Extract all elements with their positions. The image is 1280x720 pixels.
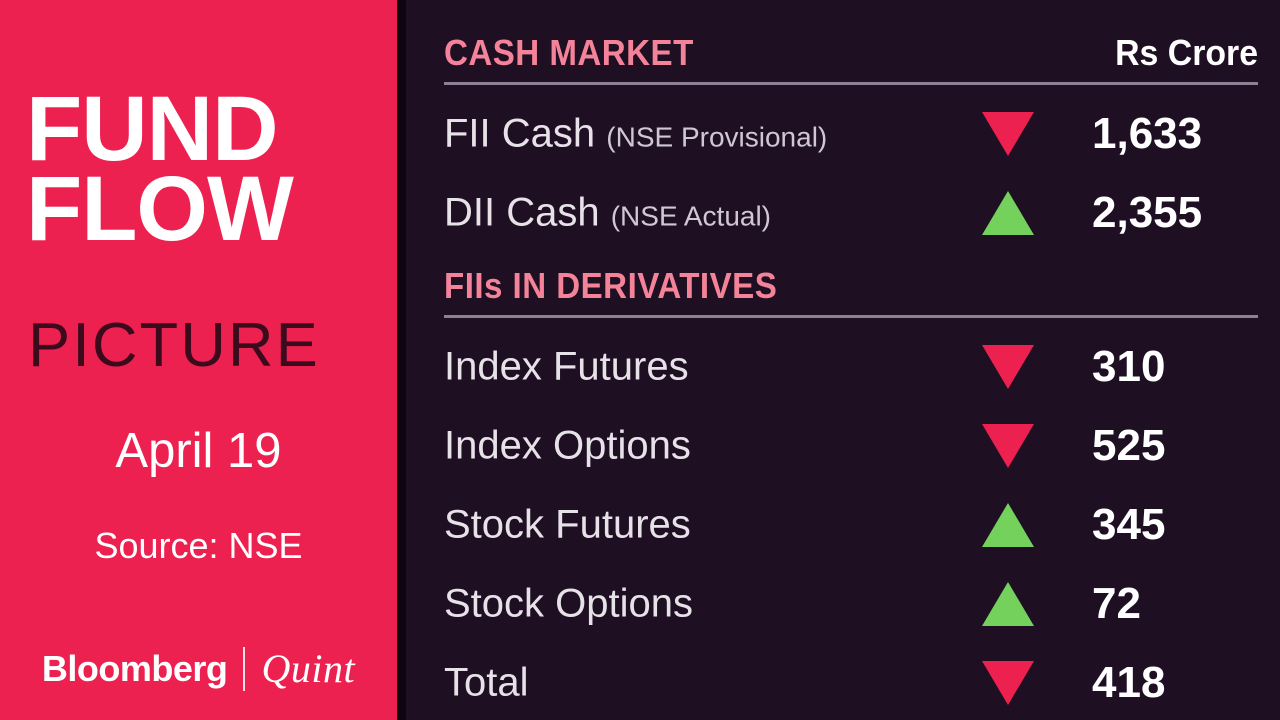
row-label-stock-options: Stock Options xyxy=(444,581,693,626)
triangle-down-icon xyxy=(982,424,1034,468)
triangle-up-icon xyxy=(982,582,1034,626)
row-label-text: DII Cash xyxy=(444,190,600,234)
row-label-stock-futures: Stock Futures xyxy=(444,502,691,547)
row-value-total: 418 xyxy=(1092,658,1165,708)
logo-word-picture: PICTURE xyxy=(28,315,320,377)
row-sublabel-text: (NSE Provisional) xyxy=(606,121,827,152)
derivatives-rows: Index Futures 310 Index Options 525 Stoc… xyxy=(444,327,1258,720)
row-label-dii-cash: DII Cash (NSE Actual) xyxy=(444,190,771,235)
triangle-down-icon xyxy=(982,345,1034,389)
table-row: Stock Options 72 xyxy=(444,564,1258,643)
section-title-cash-market: CASH MARKET xyxy=(444,32,694,74)
triangle-down-icon xyxy=(982,112,1034,156)
publisher-logo: Bloomberg Quint xyxy=(0,645,397,692)
cash-market-rows: FII Cash (NSE Provisional) 1,633 DII Cas… xyxy=(444,94,1258,252)
section-header: FIIs IN DERIVATIVES xyxy=(444,265,1258,311)
triangle-up-icon xyxy=(982,503,1034,547)
row-sublabel-text: (NSE Actual) xyxy=(611,200,771,231)
row-label-index-futures: Index Futures xyxy=(444,344,689,389)
table-row: FII Cash (NSE Provisional) 1,633 xyxy=(444,94,1258,173)
row-value-stock-options: 72 xyxy=(1092,579,1141,629)
row-value-index-options: 525 xyxy=(1092,421,1165,471)
row-value-stock-futures: 345 xyxy=(1092,500,1165,550)
row-value-index-futures: 310 xyxy=(1092,342,1165,392)
row-label-total: Total xyxy=(444,660,529,705)
table-row: Index Options 525 xyxy=(444,406,1258,485)
section-divider xyxy=(444,82,1258,85)
fund-flow-picture-graphic: FUND FLOW PICTURE April 19 Source: NSE B… xyxy=(0,0,1280,720)
logo-word-flow: FLOW xyxy=(26,170,293,249)
row-label-fii-cash: FII Cash (NSE Provisional) xyxy=(444,111,827,156)
publisher-divider xyxy=(243,647,245,691)
date-label: April 19 xyxy=(0,423,397,479)
row-value-fii-cash: 1,633 xyxy=(1092,109,1202,159)
triangle-down-icon xyxy=(982,661,1034,705)
row-label-text: FII Cash xyxy=(444,111,595,155)
triangle-up-icon xyxy=(982,191,1034,235)
publisher-quint-label: Quint xyxy=(261,645,355,692)
section-cash-market: CASH MARKET Rs Crore FII Cash (NSE Provi… xyxy=(444,32,1258,78)
data-panel: CASH MARKET Rs Crore FII Cash (NSE Provi… xyxy=(406,0,1280,720)
section-title-fiis-in-derivatives: FIIs IN DERIVATIVES xyxy=(444,265,777,307)
row-value-dii-cash: 2,355 xyxy=(1092,188,1202,238)
row-label-index-options: Index Options xyxy=(444,423,691,468)
brand-panel: FUND FLOW PICTURE April 19 Source: NSE B… xyxy=(0,0,397,720)
section-divider xyxy=(444,315,1258,318)
table-row: Total 418 xyxy=(444,643,1258,720)
unit-label-rs-crore: Rs Crore xyxy=(1115,32,1258,74)
section-header: CASH MARKET Rs Crore xyxy=(444,32,1258,78)
publisher-bloomberg-label: Bloomberg xyxy=(42,648,228,690)
panel-edge-divider xyxy=(397,0,406,720)
table-row: DII Cash (NSE Actual) 2,355 xyxy=(444,173,1258,252)
table-row: Index Futures 310 xyxy=(444,327,1258,406)
table-row: Stock Futures 345 xyxy=(444,485,1258,564)
source-label: Source: NSE xyxy=(0,525,397,567)
section-fiis-in-derivatives: FIIs IN DERIVATIVES Index Futures 310 In… xyxy=(444,265,1258,311)
